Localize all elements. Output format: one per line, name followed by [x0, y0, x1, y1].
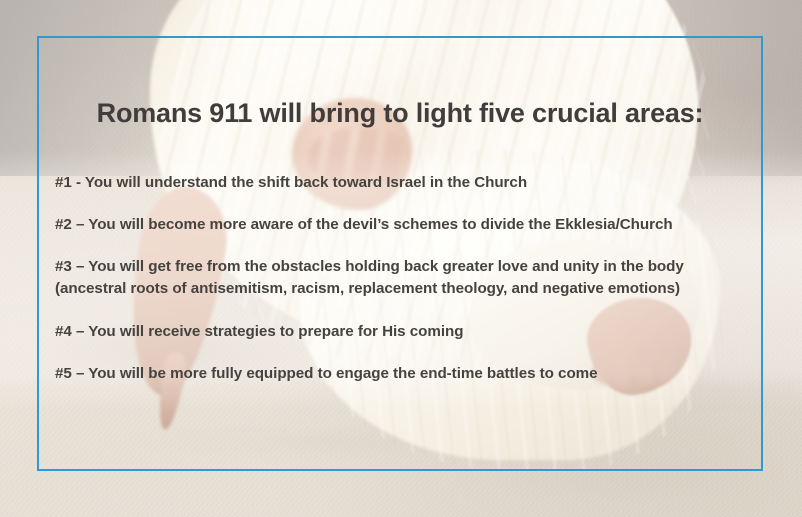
bullet-list: #1 - You will understand the shift back … — [55, 172, 751, 386]
slide-content: Romans 911 will bring to light five cruc… — [37, 36, 763, 471]
list-item: #4 – You will receive strategies to prep… — [55, 321, 751, 344]
list-item: #2 – You will become more aware of the d… — [55, 214, 751, 237]
list-item: #3 – You will get free from the obstacle… — [55, 256, 751, 302]
list-item: #1 - You will understand the shift back … — [55, 172, 751, 195]
page-title: Romans 911 will bring to light five cruc… — [37, 98, 763, 129]
list-item: #5 – You will be more fully equipped to … — [55, 363, 751, 386]
slide: Romans 911 will bring to light five cruc… — [0, 0, 802, 517]
